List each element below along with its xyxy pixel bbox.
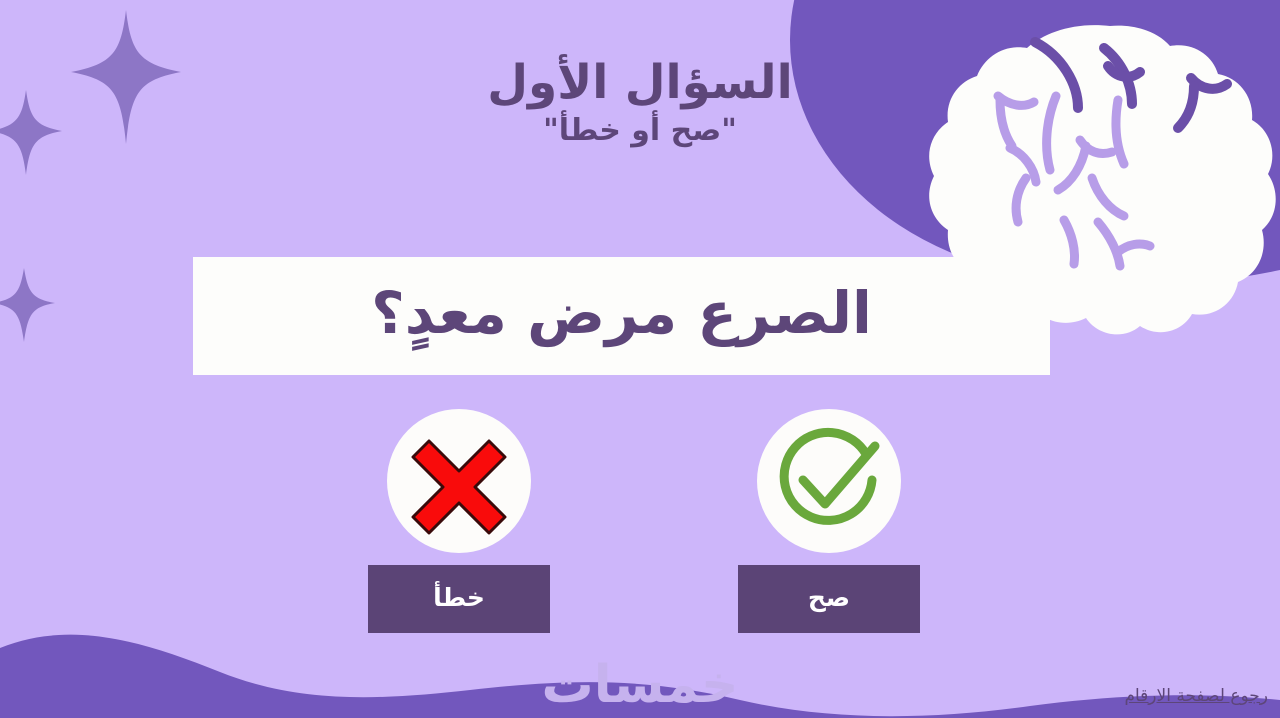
quiz-slide: السؤال الأول "صح أو خطأ" الصرع مرض معدٍ؟… bbox=[0, 0, 1280, 718]
false-icon-circle[interactable] bbox=[387, 409, 531, 553]
answer-option-true[interactable]: صح bbox=[738, 409, 920, 633]
question-text: الصرع مرض معدٍ؟ bbox=[371, 284, 872, 348]
red-cross-icon bbox=[403, 425, 515, 537]
question-card: الصرع مرض معدٍ؟ bbox=[193, 257, 1050, 375]
title-block: السؤال الأول "صح أو خطأ" bbox=[0, 58, 1280, 148]
back-to-numbers-link[interactable]: رجوع لصفحة الارقام bbox=[1124, 686, 1268, 706]
answer-option-false[interactable]: خطأ bbox=[368, 409, 550, 633]
page-title: السؤال الأول bbox=[0, 58, 1280, 107]
false-answer-button[interactable]: خطأ bbox=[368, 565, 550, 633]
page-subtitle: "صح أو خطأ" bbox=[0, 113, 1280, 148]
true-icon-circle[interactable] bbox=[757, 409, 901, 553]
true-answer-button[interactable]: صح bbox=[738, 565, 920, 633]
watermark: خمسات bbox=[541, 655, 738, 715]
sparkle-small-icon bbox=[0, 268, 55, 342]
green-check-circle-icon bbox=[770, 422, 888, 540]
